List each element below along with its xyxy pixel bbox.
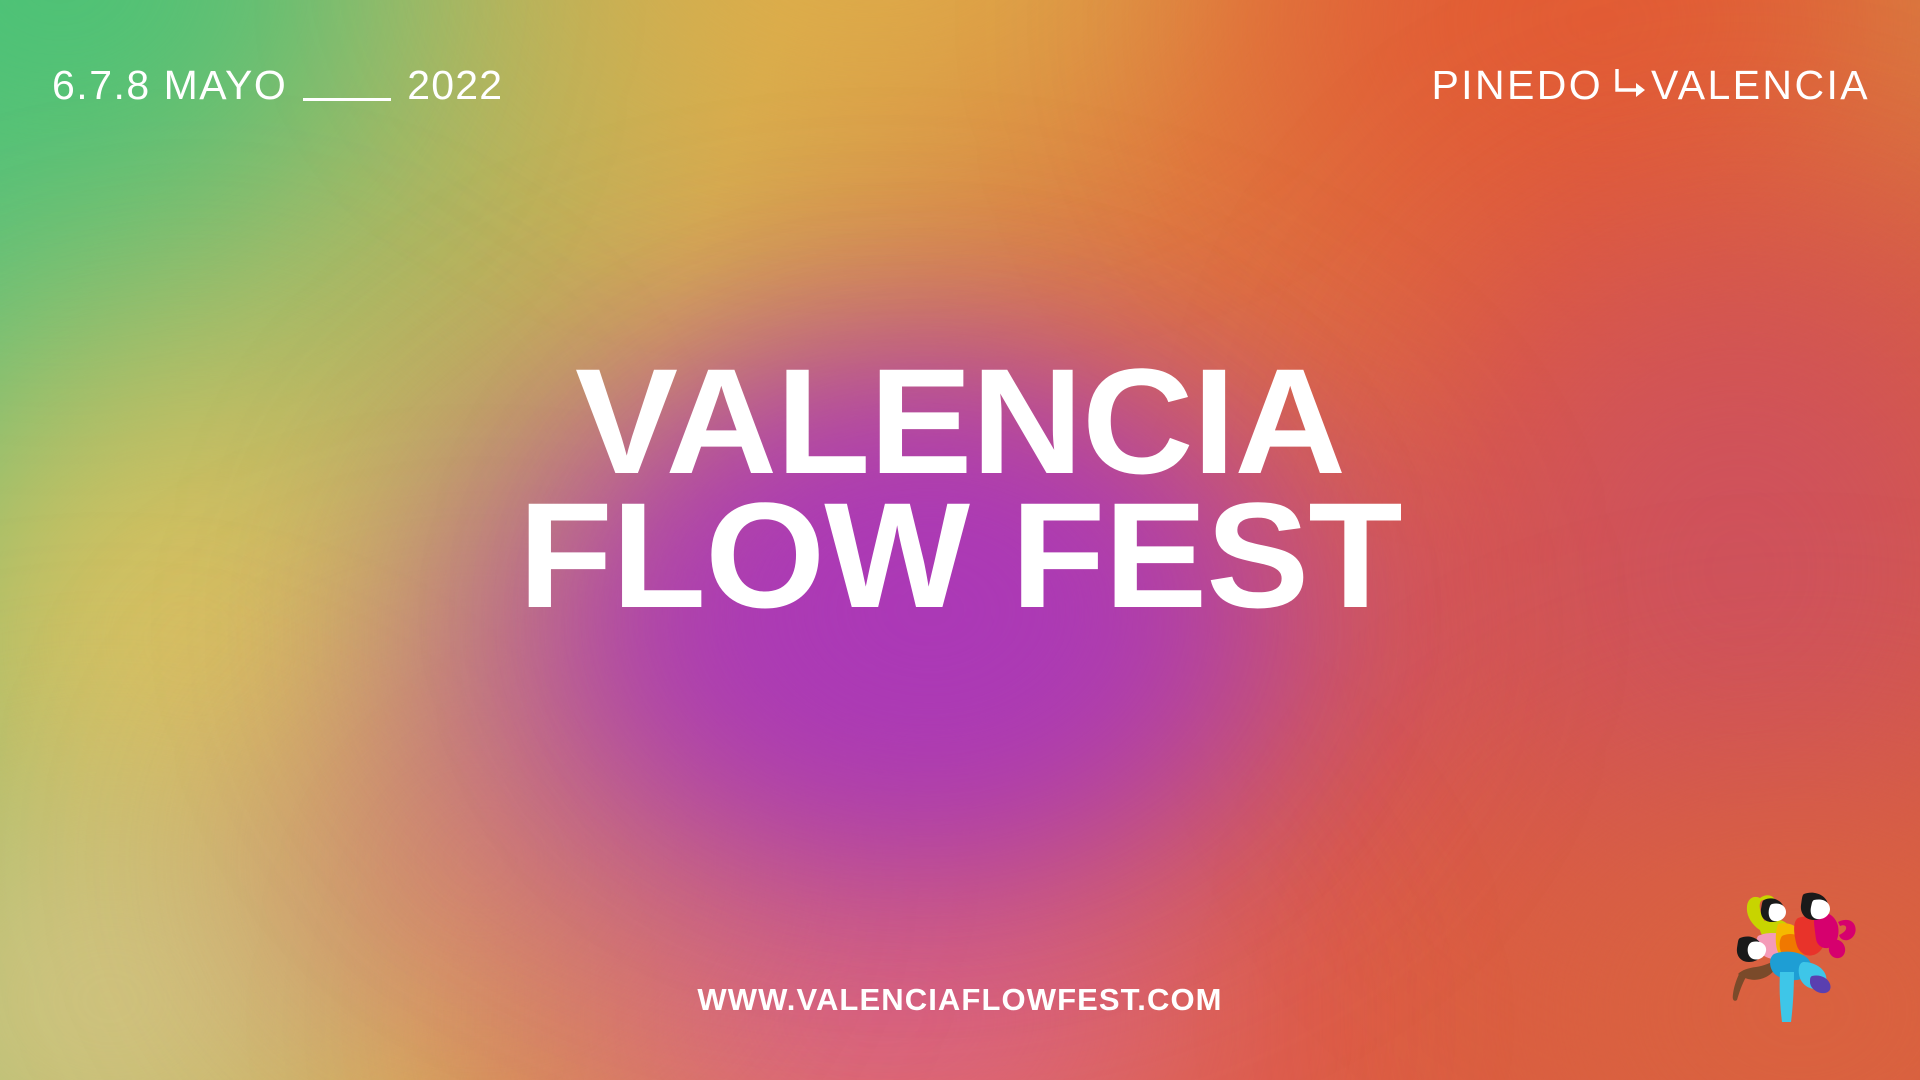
location-origin: PINEDO bbox=[1431, 62, 1603, 109]
logo-shape-blue-standing-leg bbox=[1780, 972, 1794, 1022]
arrow-down-right-icon bbox=[1613, 64, 1647, 111]
logo-shape-purple-foot bbox=[1810, 975, 1831, 993]
dancers-logo[interactable] bbox=[1720, 862, 1870, 1032]
event-year: 2022 bbox=[407, 62, 503, 109]
logo-shape-brown-leg bbox=[1733, 972, 1746, 1001]
event-location: PINEDO VALENCIA bbox=[1431, 62, 1870, 109]
title-line-2: FLOW FEST bbox=[0, 486, 1920, 626]
event-dates-text: 6.7.8 MAYO bbox=[52, 62, 287, 109]
website-url[interactable]: WWW.VALENCIAFLOWFEST.COM bbox=[0, 982, 1920, 1018]
date-separator-rule bbox=[303, 98, 391, 101]
page-title: VALENCIA FLOW FEST bbox=[0, 352, 1920, 625]
logo-shape-magenta-arm bbox=[1838, 920, 1856, 940]
logo-shape-magenta-hand bbox=[1829, 939, 1845, 958]
festival-poster: 6.7.8 MAYO 2022 PINEDO VALENCIA VALENCIA… bbox=[0, 0, 1920, 1080]
logo-shape-face-1 bbox=[1769, 903, 1786, 921]
event-dates: 6.7.8 MAYO 2022 bbox=[52, 62, 503, 109]
logo-shape-face-3 bbox=[1748, 942, 1766, 960]
poster-content: 6.7.8 MAYO 2022 PINEDO VALENCIA VALENCIA… bbox=[0, 0, 1920, 1080]
location-destination: VALENCIA bbox=[1651, 62, 1870, 109]
